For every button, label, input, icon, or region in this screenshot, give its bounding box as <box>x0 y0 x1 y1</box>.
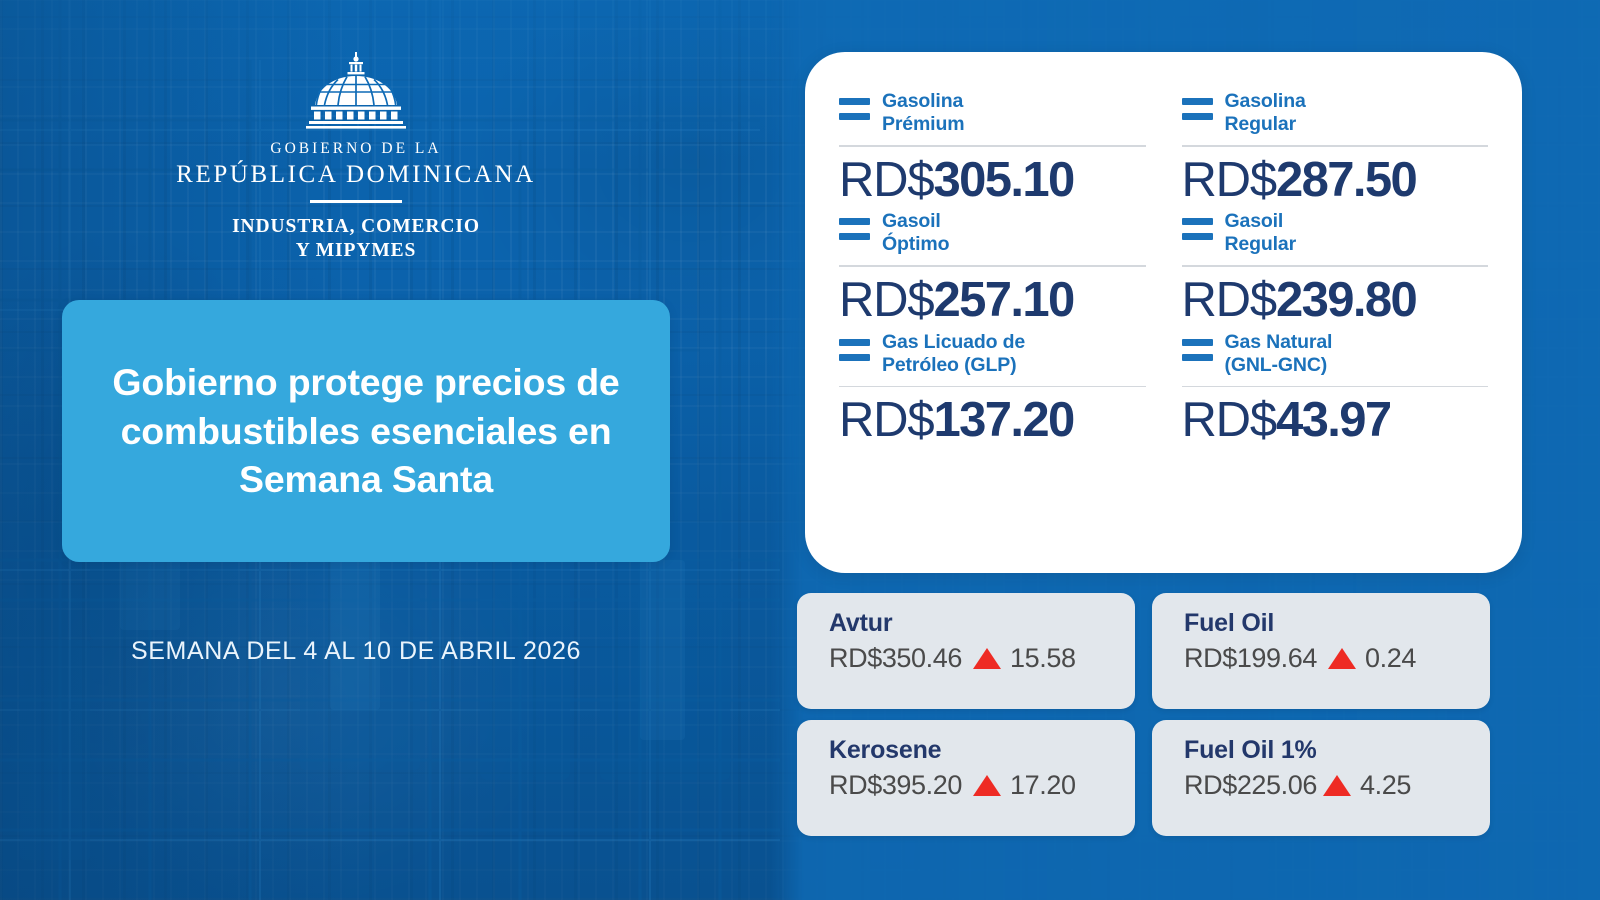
fuel-cell-gasoil-optimo: Gasoil Óptimo RD$257.10 <box>835 210 1150 330</box>
fuel-amount: 43.97 <box>1276 393 1391 447</box>
fuel-header: Gasolina Regular <box>1182 90 1489 136</box>
fuel-divider <box>839 386 1146 388</box>
secondary-fuel-delta: 17.20 <box>1010 770 1076 801</box>
fuel-amount: 305.10 <box>933 153 1073 207</box>
fuel-currency: RD$ <box>1182 153 1276 207</box>
fuel-amount: 239.80 <box>1276 273 1416 327</box>
fuel-cell-glp: Gas Licuado de Petróleo (GLP) RD$137.20 <box>835 331 1150 451</box>
fuel-name: Gasoil Regular <box>1225 210 1297 256</box>
secondary-fuel-row: RD$199.64 0.24 <box>1184 643 1490 674</box>
main-price-card: Gasolina Prémium RD$305.10 Gasolina Regu… <box>805 52 1522 573</box>
fuel-header: Gasoil Regular <box>1182 210 1489 256</box>
fuel-divider <box>1182 265 1489 267</box>
triangle-up-icon <box>1323 775 1351 796</box>
left-column: GOBIERNO DE LA REPÚBLICA DOMINICANA INDU… <box>0 0 780 900</box>
secondary-fuel-card-kerosene: Kerosene RD$395.20 17.20 <box>797 720 1135 836</box>
secondary-fuel-name: Fuel Oil <box>1184 609 1490 638</box>
secondary-fuel-card-fuel-oil: Fuel Oil RD$199.64 0.24 <box>1152 593 1490 709</box>
secondary-fuel-price: RD$395.20 <box>829 770 962 801</box>
fuel-currency: RD$ <box>839 273 933 327</box>
secondary-fuel-row: RD$350.46 15.58 <box>829 643 1135 674</box>
fuel-name: Gasolina Regular <box>1225 90 1306 136</box>
fuel-currency: RD$ <box>839 153 933 207</box>
dominican-republic-dome-crest-icon <box>292 52 420 130</box>
secondary-fuel-delta: 4.25 <box>1360 770 1411 801</box>
fuel-header: Gasoil Óptimo <box>839 210 1146 256</box>
fuel-name: Gas Licuado de Petróleo (GLP) <box>882 331 1025 377</box>
fuel-header: Gasolina Prémium <box>839 90 1146 136</box>
equals-bars-icon <box>1182 90 1213 120</box>
secondary-fuel-name: Avtur <box>829 609 1135 638</box>
fuel-cell-gasolina-regular: Gasolina Regular RD$287.50 <box>1178 90 1493 210</box>
fuel-cell-gasoil-regular: Gasoil Regular RD$239.80 <box>1178 210 1493 330</box>
secondary-fuel-card-fuel-oil-1pct: Fuel Oil 1% RD$225.06 4.25 <box>1152 720 1490 836</box>
fuel-currency: RD$ <box>1182 393 1276 447</box>
equals-bars-icon <box>839 90 870 120</box>
secondary-fuel-price: RD$199.64 <box>1184 643 1317 674</box>
triangle-up-icon <box>973 775 1001 796</box>
fuel-divider <box>839 265 1146 267</box>
fuel-divider <box>1182 145 1489 147</box>
secondary-fuel-price: RD$225.06 <box>1184 770 1317 801</box>
fuel-divider <box>839 145 1146 147</box>
government-brand-block: GOBIERNO DE LA REPÚBLICA DOMINICANA INDU… <box>0 52 712 263</box>
secondary-fuel-row: RD$225.06 4.25 <box>1184 770 1490 801</box>
fuel-price: RD$137.20 <box>839 391 1146 451</box>
fuel-amount: 257.10 <box>933 273 1073 327</box>
brand-line-2: REPÚBLICA DOMINICANA <box>0 161 712 189</box>
secondary-fuel-name: Kerosene <box>829 736 1135 765</box>
equals-bars-icon <box>839 331 870 361</box>
fuel-header: Gas Natural (GNL-GNC) <box>1182 331 1489 377</box>
fuel-price: RD$257.10 <box>839 271 1146 331</box>
week-range-label: SEMANA DEL 4 AL 10 DE ABRIL 2026 <box>0 637 712 666</box>
brand-divider <box>310 200 402 203</box>
headline-text: Gobierno protege precios de combustibles… <box>62 358 670 504</box>
brand-line-1: GOBIERNO DE LA <box>0 140 712 158</box>
fuel-cell-gas-natural: Gas Natural (GNL-GNC) RD$43.97 <box>1178 331 1493 451</box>
headline-box: Gobierno protege precios de combustibles… <box>62 300 670 562</box>
fuel-header: Gas Licuado de Petróleo (GLP) <box>839 331 1146 377</box>
secondary-fuel-price: RD$350.46 <box>829 643 962 674</box>
fuel-price-grid: Gasolina Prémium RD$305.10 Gasolina Regu… <box>835 90 1492 451</box>
fuel-currency: RD$ <box>1182 273 1276 327</box>
secondary-fuel-delta: 0.24 <box>1365 643 1416 674</box>
fuel-divider <box>1182 386 1489 388</box>
fuel-price: RD$305.10 <box>839 151 1146 211</box>
triangle-up-icon <box>973 648 1001 669</box>
brand-department: INDUSTRIA, COMERCIO Y MIPYMES <box>0 215 712 263</box>
fuel-name: Gasoil Óptimo <box>882 210 949 256</box>
secondary-fuel-name: Fuel Oil 1% <box>1184 736 1490 765</box>
fuel-price: RD$43.97 <box>1182 391 1489 451</box>
secondary-fuel-delta: 15.58 <box>1010 643 1076 674</box>
fuel-cell-gasolina-premium: Gasolina Prémium RD$305.10 <box>835 90 1150 210</box>
secondary-fuel-row: RD$395.20 17.20 <box>829 770 1135 801</box>
triangle-up-icon <box>1328 648 1356 669</box>
secondary-fuel-card-avtur: Avtur RD$350.46 15.58 <box>797 593 1135 709</box>
fuel-price: RD$287.50 <box>1182 151 1489 211</box>
fuel-name: Gasolina Prémium <box>882 90 964 136</box>
fuel-amount: 137.20 <box>933 393 1073 447</box>
equals-bars-icon <box>1182 331 1213 361</box>
fuel-currency: RD$ <box>839 393 933 447</box>
fuel-amount: 287.50 <box>1276 153 1416 207</box>
fuel-name: Gas Natural (GNL-GNC) <box>1225 331 1333 377</box>
equals-bars-icon <box>839 210 870 240</box>
equals-bars-icon <box>1182 210 1213 240</box>
fuel-price: RD$239.80 <box>1182 271 1489 331</box>
